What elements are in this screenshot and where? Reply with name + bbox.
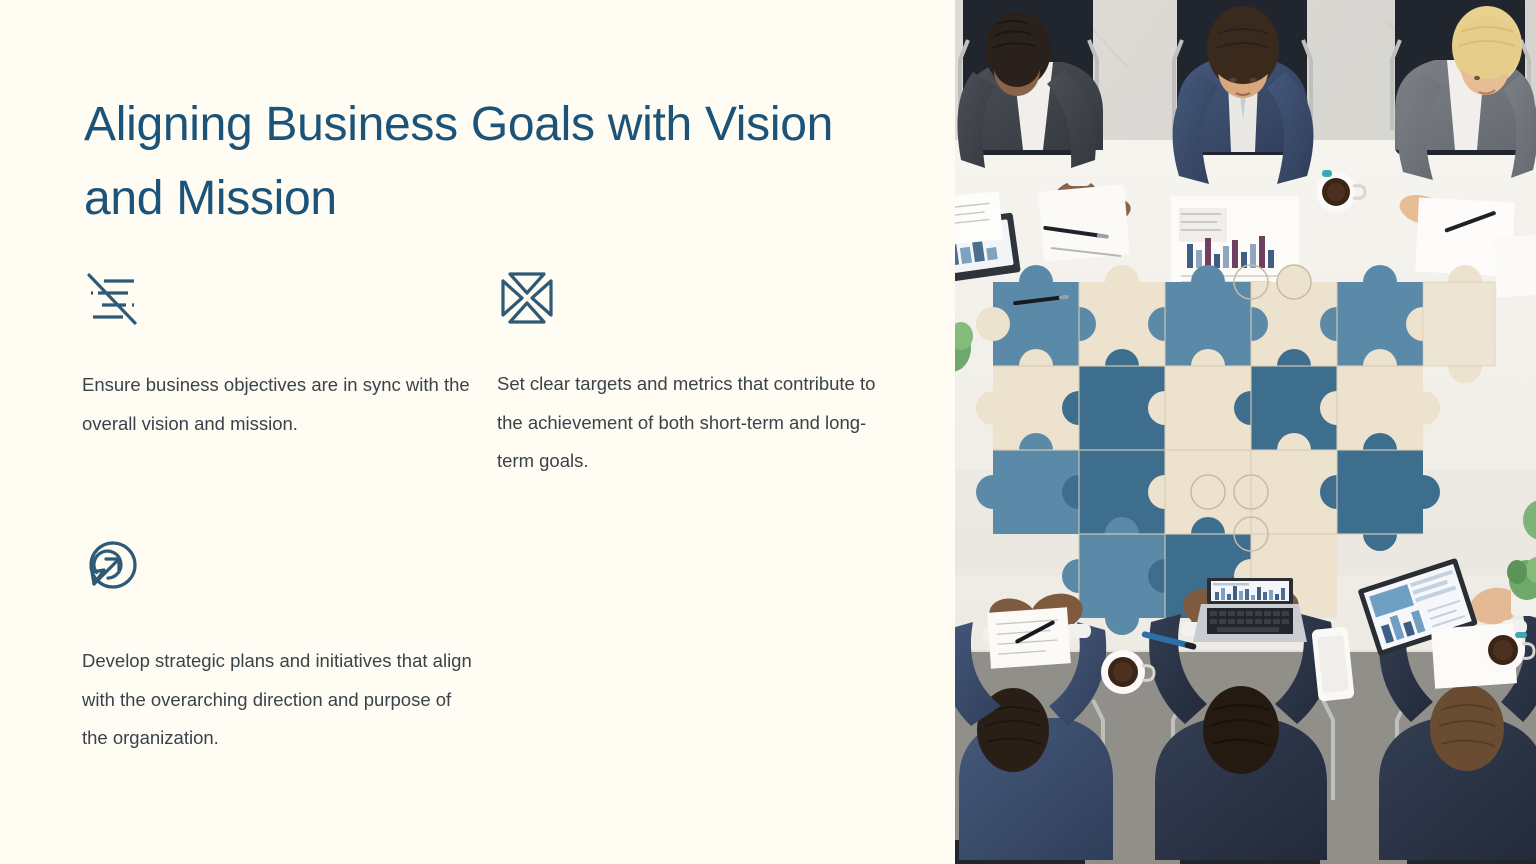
laptop-center [1193,578,1307,642]
feature-text-3: Develop strategic plans and initiatives … [82,642,472,758]
feature-text-2: Set clear targets and metrics that contr… [497,365,897,481]
align-lines-slash-icon [82,268,142,328]
feature-text-1: Ensure business objectives are in sync w… [82,366,472,443]
feature-item-3: Develop strategic plans and initiatives … [82,537,472,758]
smartphone [1311,626,1354,701]
page-title: Aligning Business Goals with Vision and … [84,88,884,236]
plant-bottom-right [1507,557,1536,616]
feature-item-2: Set clear targets and metrics that contr… [497,268,897,481]
photo-illustration [955,0,1536,864]
business-team-meeting-puzzle-photo [955,0,1536,864]
slide-root: Aligning Business Goals with Vision and … [0,0,1536,864]
cross-arrows-target-icon [497,268,557,328]
left-content-pane: Aligning Business Goals with Vision and … [0,0,955,864]
feature-item-1: Ensure business objectives are in sync w… [82,268,472,443]
notebook-bottom-left [987,607,1071,668]
target-arrow-icon [82,537,142,597]
